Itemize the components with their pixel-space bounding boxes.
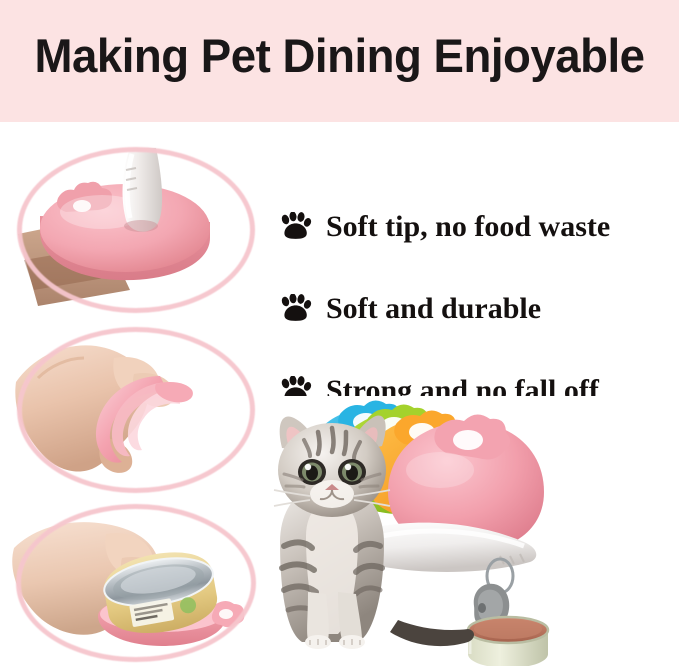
product-infographic: Making Pet Dining Enjoyable Soft tip, no… bbox=[0, 0, 679, 666]
feature-label: Soft and durable bbox=[326, 293, 541, 325]
paw-print-icon bbox=[278, 294, 312, 324]
photo-hand-bending-lid bbox=[10, 320, 262, 500]
feature-item-2: Soft and durable bbox=[278, 268, 676, 350]
ellipse-frame bbox=[16, 504, 256, 662]
feature-label: Soft tip, no food waste bbox=[326, 211, 610, 243]
paw-print-icon bbox=[278, 212, 312, 242]
ellipse-frame bbox=[17, 327, 255, 493]
page-title: Making Pet Dining Enjoyable bbox=[10, 27, 669, 85]
ellipse-frame bbox=[17, 147, 255, 313]
photo-lid-with-spoon bbox=[10, 140, 262, 320]
photo-hand-holding-can-with-lid bbox=[10, 500, 262, 666]
hero-illustration bbox=[262, 396, 679, 666]
feature-item-1: Soft tip, no food waste bbox=[278, 186, 676, 268]
hero-composite: Grey tabby kitten sitting and looking fo… bbox=[262, 396, 679, 666]
